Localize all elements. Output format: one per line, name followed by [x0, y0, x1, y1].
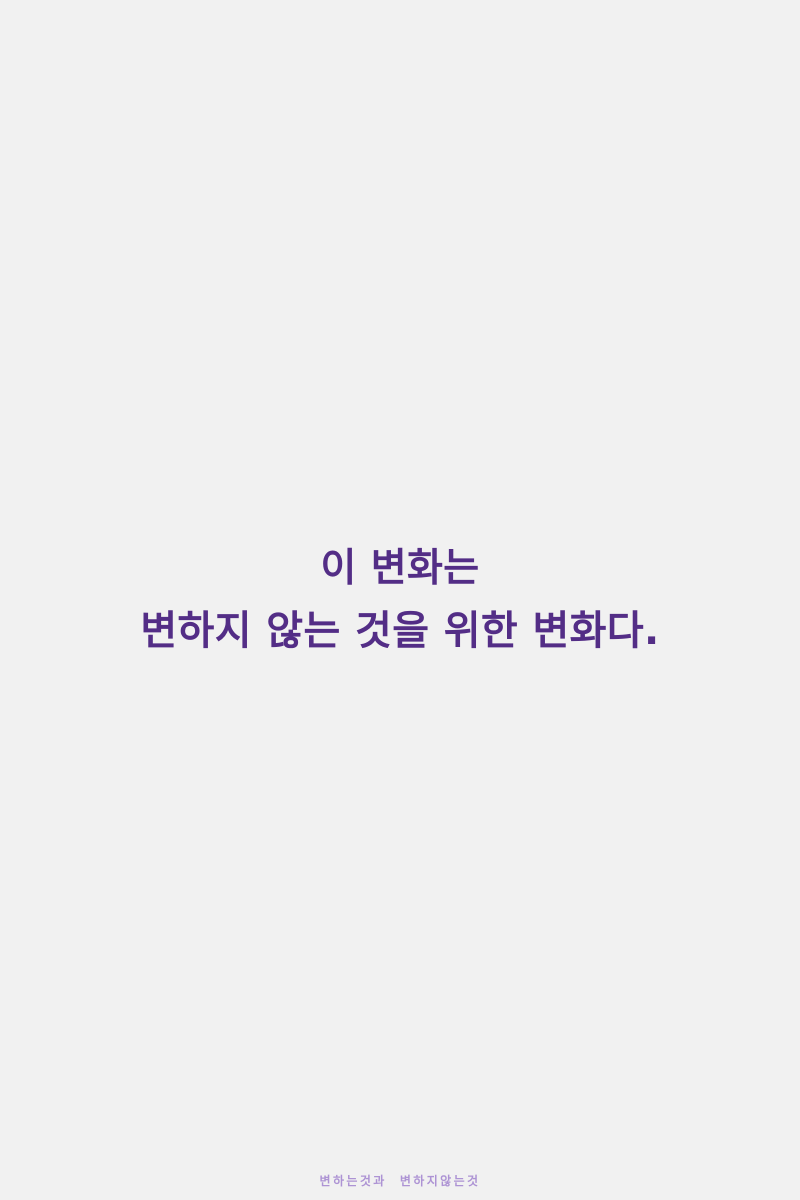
quote-line-1: 이 변화는 [0, 538, 800, 600]
footer-caption: 변하는것과 변하지않는것 [320, 1173, 481, 1189]
footer: 변하는것과 변하지않는것 [0, 1170, 800, 1189]
quote-line-2: 변하지 않는 것을 위한 변화다. [0, 600, 800, 662]
quote-block: 이 변화는 변하지 않는 것을 위한 변화다. [0, 538, 800, 662]
quote-card: 이 변화는 변하지 않는 것을 위한 변화다. 변하는것과 변하지않는것 [0, 0, 800, 1200]
